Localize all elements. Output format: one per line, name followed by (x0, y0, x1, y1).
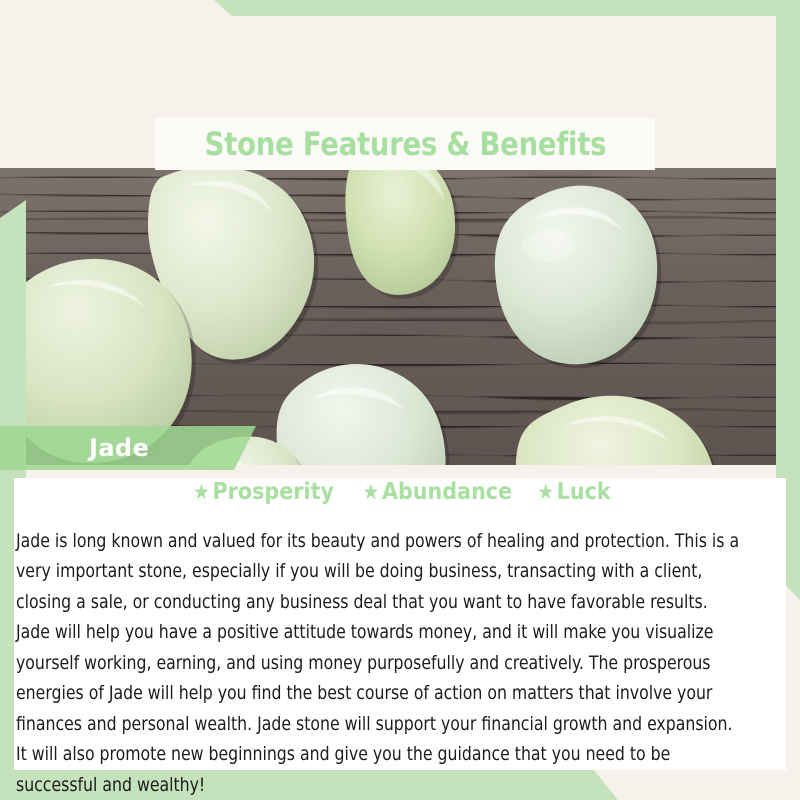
benefit-item-prosperity: ★Prosperity (193, 479, 334, 505)
benefits-row: ★Prosperity ★Abundance ★Luck (14, 479, 786, 505)
stone-photo (0, 168, 800, 465)
stone-name-label: Jade (89, 434, 149, 462)
star-icon: ★ (537, 480, 554, 504)
benefit-label: Abundance (382, 479, 512, 505)
page-title: Stone Features & Benefits (204, 125, 606, 163)
benefit-item-abundance: ★Abundance (363, 479, 513, 505)
benefit-item-luck: ★Luck (537, 479, 611, 505)
stone-name-banner: Jade (0, 426, 256, 470)
title-banner: Stone Features & Benefits (155, 118, 655, 170)
stone-photo-graphic (0, 168, 800, 465)
stone-description-text: Jade is long known and valued for its be… (16, 527, 740, 800)
star-icon: ★ (193, 480, 210, 504)
stone-info-poster: BUDDHA STONES (0, 0, 800, 800)
benefit-label: Luck (557, 479, 611, 505)
benefit-label: Prosperity (213, 479, 334, 505)
star-icon: ★ (363, 480, 380, 504)
